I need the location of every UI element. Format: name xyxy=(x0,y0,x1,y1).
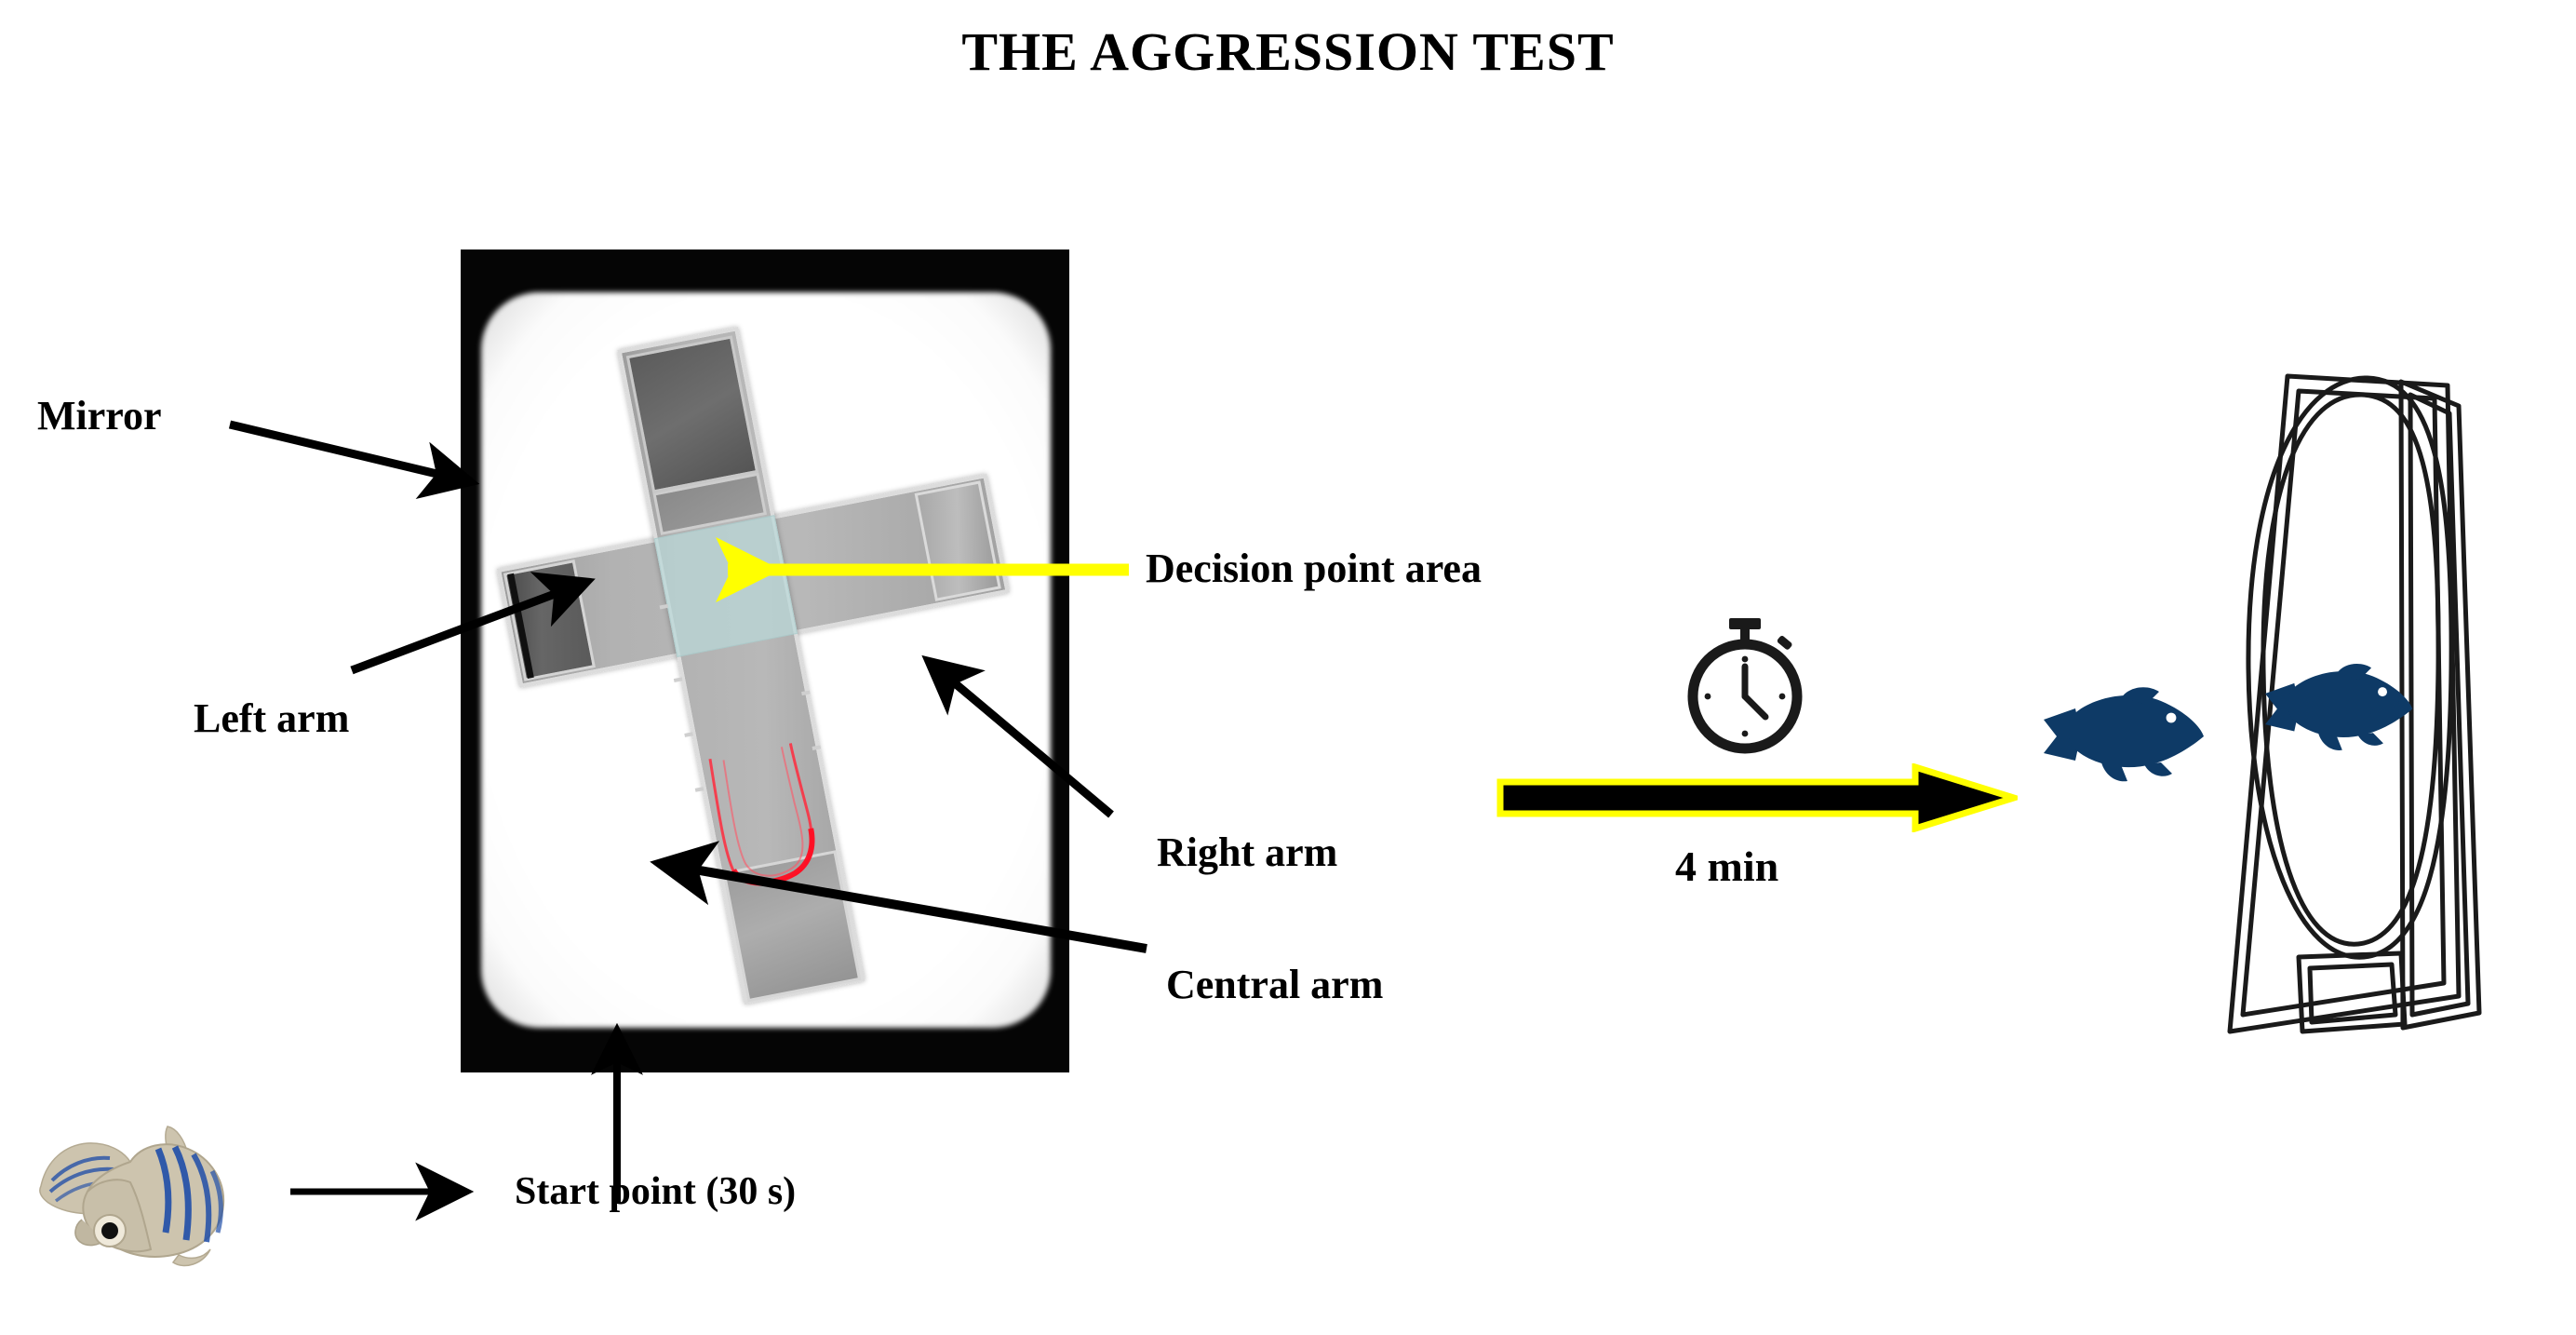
swim-track-trace xyxy=(695,735,852,907)
duration-label: 4 min xyxy=(1675,842,1778,891)
stopwatch-icon xyxy=(1675,616,1815,756)
aggression-test-figure: THE AGGRESSION TEST xyxy=(0,0,2576,1335)
navy-fish-icon xyxy=(2044,684,2207,789)
annotation-arrow-layer xyxy=(0,0,2576,1335)
page-title: THE AGGRESSION TEST xyxy=(0,20,2576,83)
standing-mirror-icon xyxy=(2219,361,2526,1087)
plus-maze-photograph xyxy=(461,249,1069,1072)
label-start-point: Start point (30 s) xyxy=(515,1171,796,1212)
label-decision-point-area: Decision point area xyxy=(1146,547,1482,590)
label-right-arm: Right arm xyxy=(1157,831,1337,874)
label-central-arm: Central arm xyxy=(1166,964,1383,1006)
decision-point-area-highlight xyxy=(654,515,798,657)
right-arrow-icon xyxy=(1496,763,2018,832)
label-left-arm: Left arm xyxy=(194,697,349,740)
arrow-mirror xyxy=(230,425,468,481)
zebrafish-icon xyxy=(30,1100,259,1287)
label-mirror: Mirror xyxy=(37,395,162,438)
